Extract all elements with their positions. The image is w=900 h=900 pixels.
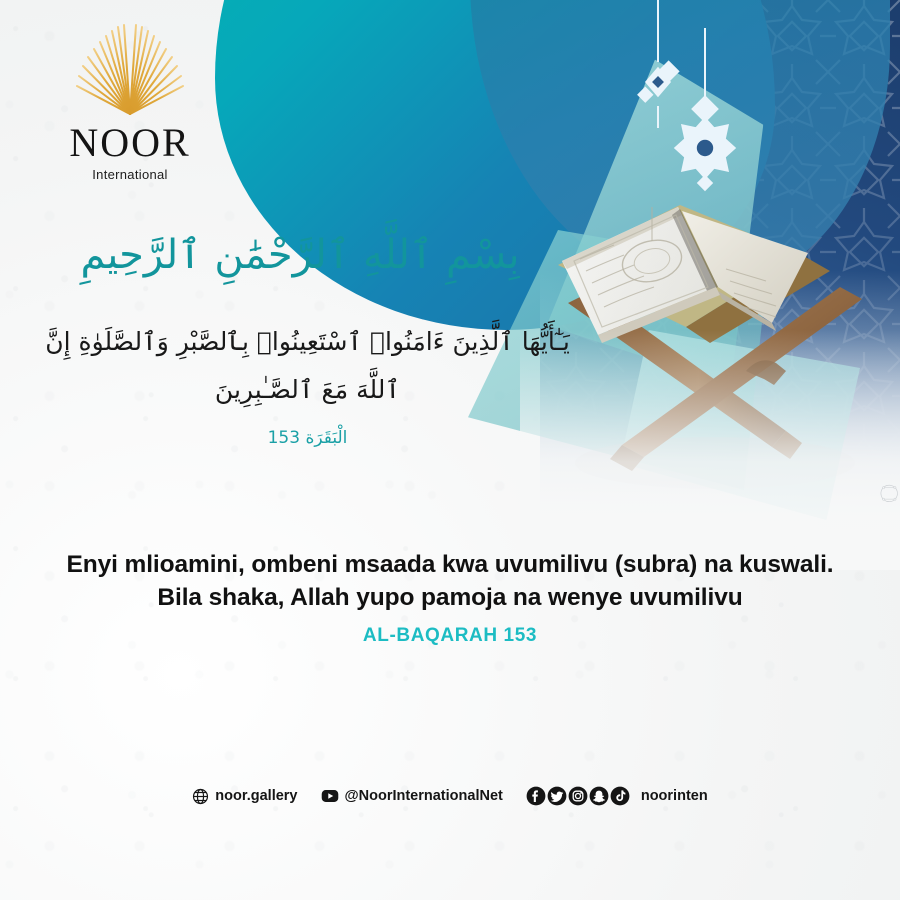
surah-reference-arabic: الْبَقَرَة 153 [20,428,595,448]
edge-ornament-mark: ۝ [880,470,898,505]
youtube-group[interactable]: @NoorInternationalNet [321,787,503,805]
brand-logo: NOOR International [40,22,220,182]
bismillah-text: بِسْمِ ٱللَّهِ ٱلرَّحْمَٰنِ ٱلرَّحِيمِ [0,232,600,278]
youtube-handle-label: @NoorInternationalNet [345,789,503,804]
surah-reference-latin: AL-BAQARAH 153 [45,625,855,647]
tiktok-icon[interactable] [610,786,630,806]
facebook-icon[interactable] [526,786,546,806]
social-handle-label: noorinten [641,789,708,804]
website-group[interactable]: noor.gallery [192,788,297,805]
snapchat-icon[interactable] [589,786,609,806]
sunburst-rays-icon [70,22,190,117]
website-label: noor.gallery [215,789,297,804]
globe-icon [192,788,209,805]
social-group[interactable]: noorinten [526,786,708,806]
ayah-arabic-text: يَـٰٓأَيُّهَا ٱلَّذِينَ ءَامَنُوا۟ ٱسْتَ… [20,318,595,413]
translation-text: Enyi mlioamini, ombeni msaada kwa uvumil… [45,548,855,614]
youtube-icon [321,787,339,805]
twitter-icon[interactable] [547,786,567,806]
poster-canvas: ۝ [0,0,900,900]
social-icon-row[interactable] [526,786,630,806]
brand-name: NOOR [40,123,220,163]
footer-bar: noor.gallery @NoorInternationalNet [0,786,900,806]
instagram-icon[interactable] [568,786,588,806]
brand-tagline: International [40,167,220,182]
